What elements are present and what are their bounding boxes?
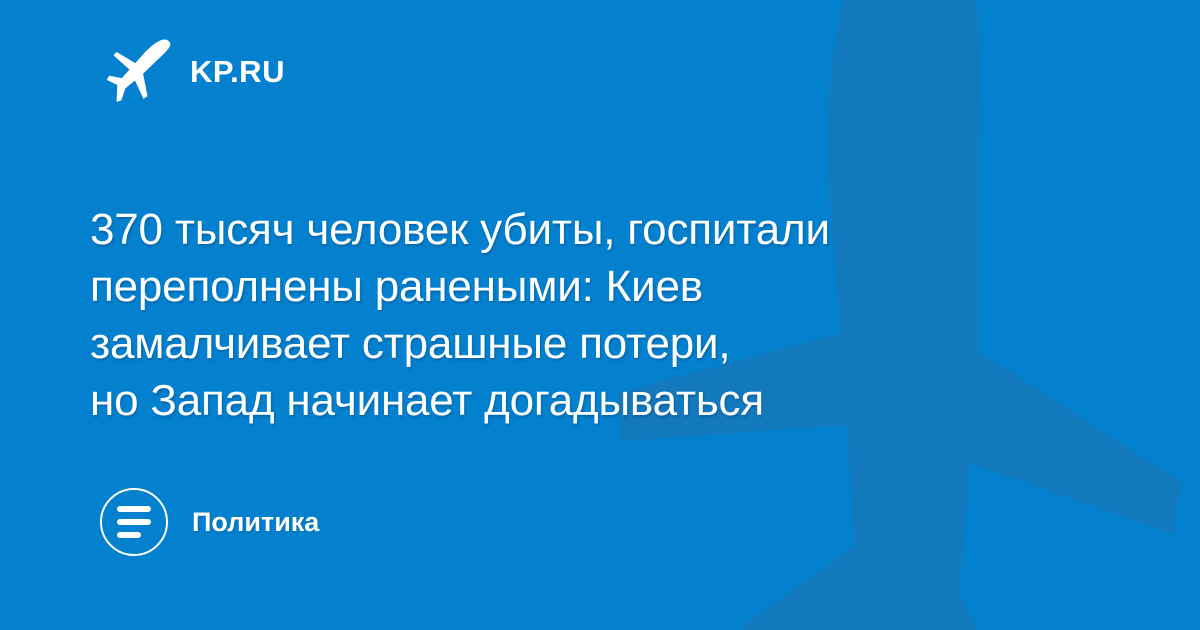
hamburger-bar-1 — [117, 506, 151, 512]
category-badge[interactable]: Политика — [100, 488, 319, 556]
swallow-bird-icon — [104, 36, 172, 106]
headline-line-4: но Запад начинает догадываться — [90, 372, 1050, 429]
headline: 370 тысяч человек убиты, госпитали переп… — [90, 201, 1050, 429]
hamburger-bar-2 — [117, 519, 151, 525]
headline-line-2: переполнены ранеными: Киев — [90, 258, 1050, 315]
headline-line-3: замалчивает страшные потери, — [90, 315, 1050, 372]
social-share-card: KP.RU 370 тысяч человек убиты, госпитали… — [0, 0, 1200, 630]
headline-line-1: 370 тысяч человек убиты, госпитали — [90, 201, 1050, 258]
site-logo[interactable]: KP.RU — [104, 36, 285, 106]
hamburger-bar-3 — [117, 532, 141, 538]
brand-name: KP.RU — [190, 56, 285, 87]
category-label: Политика — [192, 509, 319, 536]
hamburger-menu-icon[interactable] — [100, 488, 168, 556]
